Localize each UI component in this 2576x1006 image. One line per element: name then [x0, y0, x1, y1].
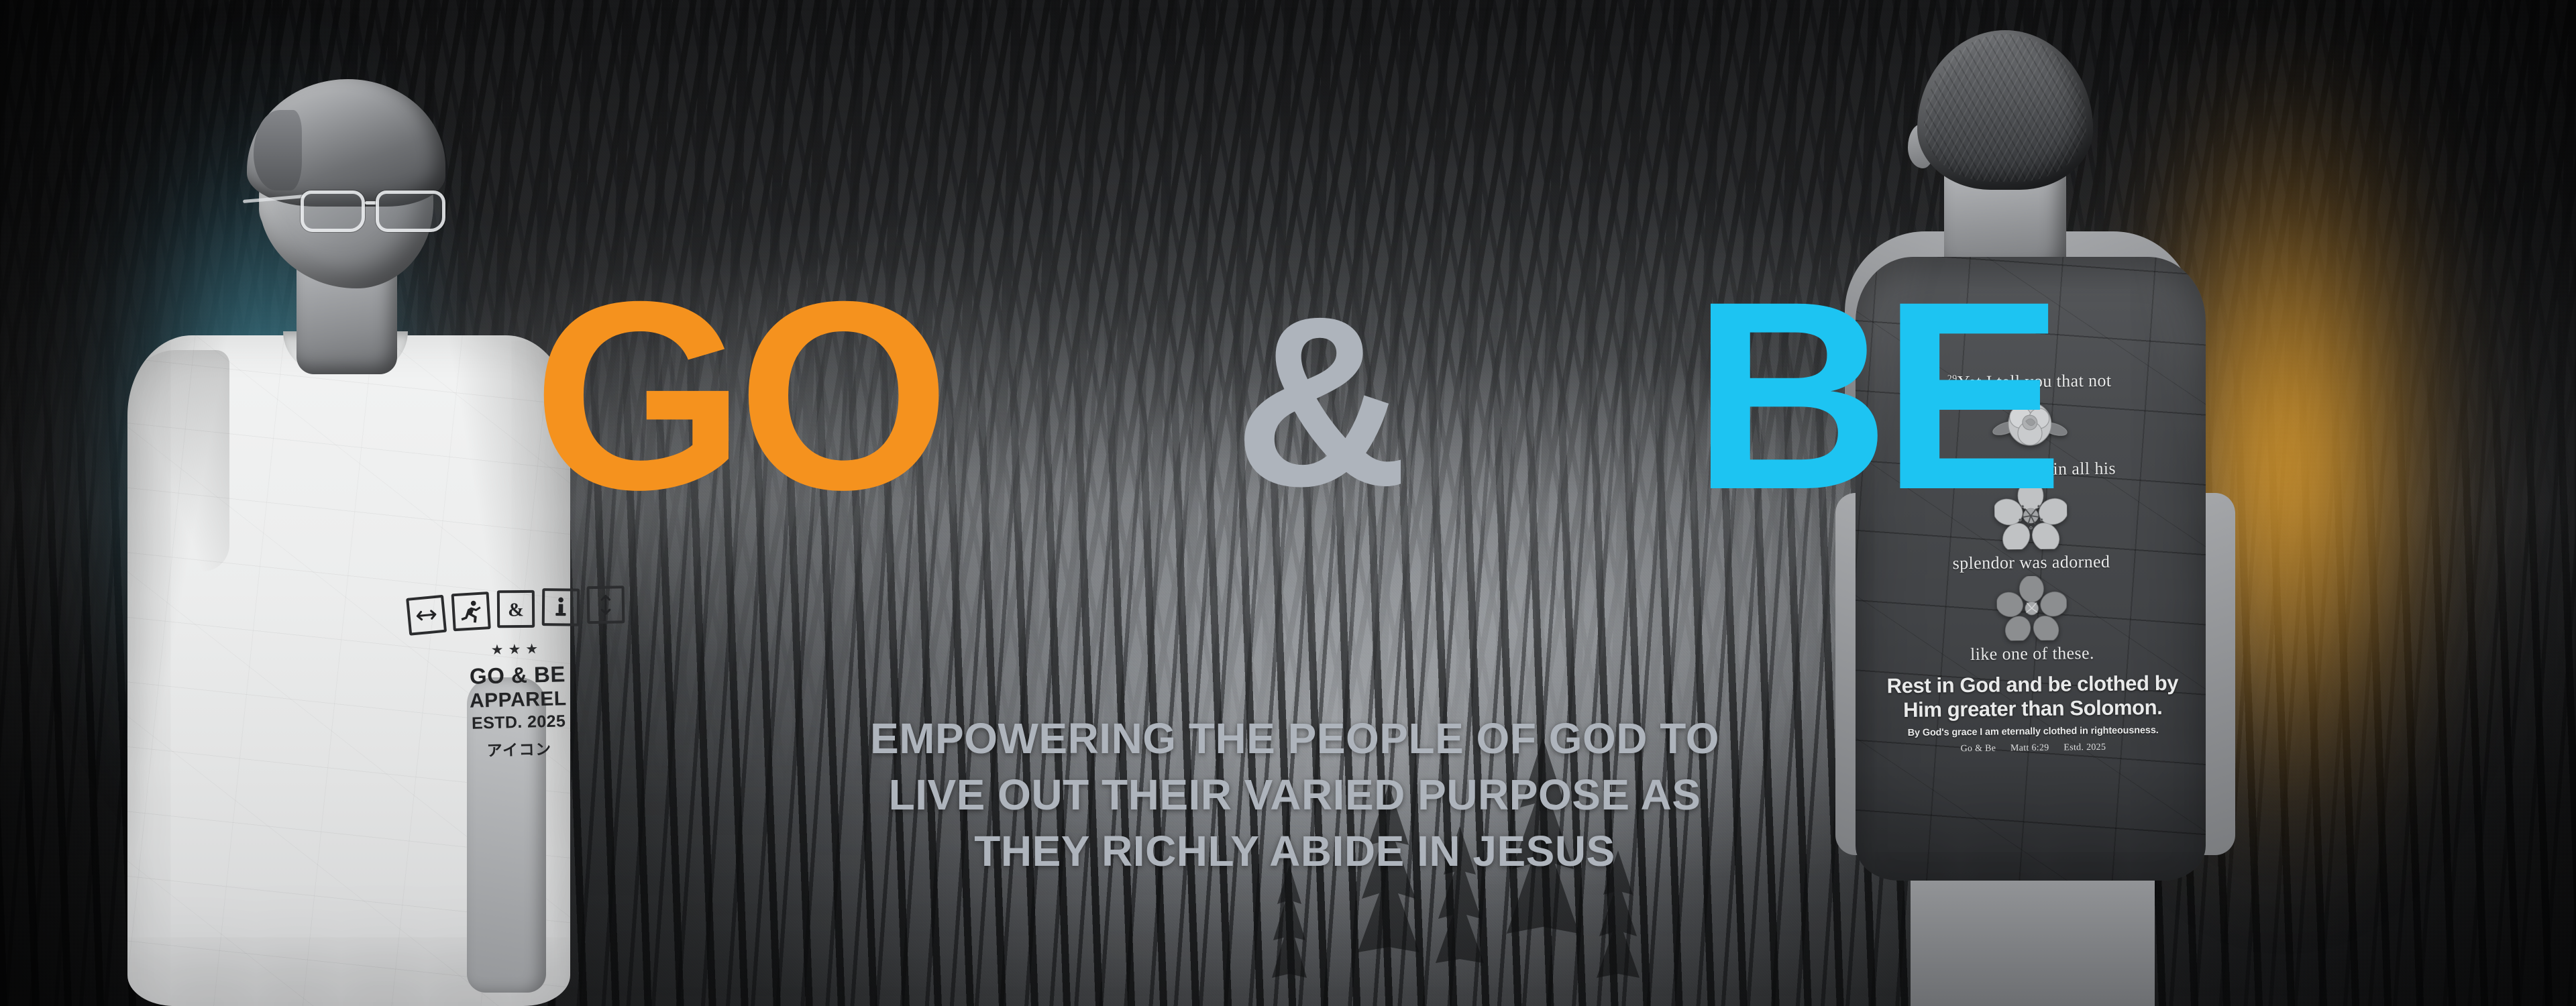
subtitle-line-1: EMPOWERING THE PEOPLE OF GOD TO — [537, 711, 2053, 767]
headline-word-ampersand: & — [1234, 298, 1400, 506]
right-model-hair — [1917, 30, 2093, 190]
ampersand-icon: & — [497, 590, 535, 628]
right-tee-statement-line-1: Rest in God and be clothed by — [1884, 671, 2182, 697]
vertical-arrow-icon — [586, 585, 625, 624]
glasses-lens-left — [301, 190, 365, 232]
eyeglasses-icon — [301, 185, 455, 239]
hero-subtitle: EMPOWERING THE PEOPLE OF GOD TO LIVE OUT… — [537, 711, 2053, 879]
horizontal-arrow-icon — [406, 595, 447, 636]
hero-headline: GO & BE — [537, 255, 2053, 537]
subtitle-line-3: THEY RICHLY ABIDE IN JESUS — [537, 824, 2053, 880]
glasses-lens-right — [376, 190, 445, 232]
verse-line-4: like one of these. — [1883, 641, 2181, 665]
left-tee-icon-row: & — [374, 587, 657, 631]
headline-word-go: GO — [533, 280, 942, 511]
info-person-icon — [542, 588, 580, 626]
wild-flower-icon — [1882, 574, 2181, 642]
left-tee-sleeve-shadow — [129, 350, 229, 571]
running-person-icon — [451, 592, 491, 631]
svg-text:&: & — [508, 600, 524, 620]
credit-founded: Estd. 2025 — [2063, 742, 2106, 753]
verse-line-3: splendor was adorned — [1882, 551, 2180, 575]
subtitle-line-2: LIVE OUT THEIR VARIED PURPOSE AS — [537, 767, 2053, 824]
headline-word-be: BE — [1693, 280, 2056, 511]
left-tee-stars: ★★★ — [376, 639, 657, 660]
hero-banner: & ★★★ — [0, 0, 2576, 1006]
